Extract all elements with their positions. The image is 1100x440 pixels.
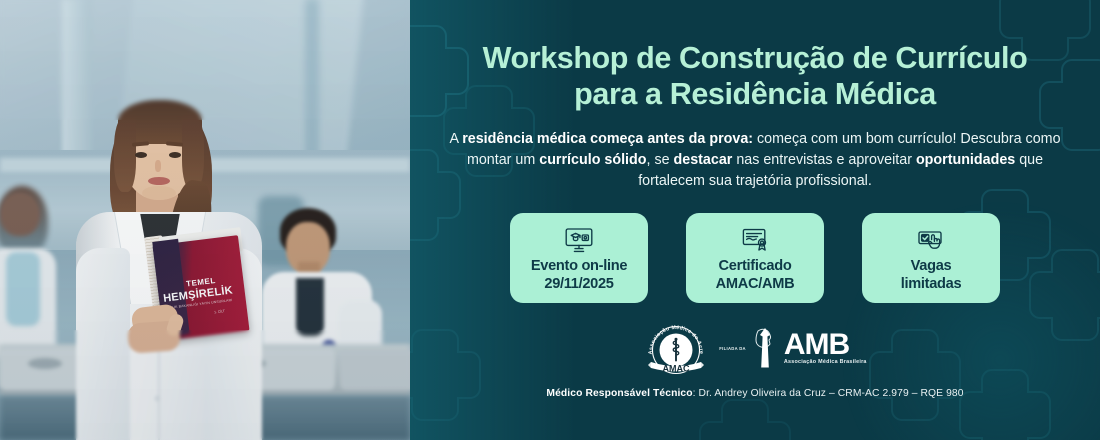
promo-banner: TEMEL HEMŞİRELİK SAĞLIK BAKANLIĞI YAYIN … (0, 0, 1100, 440)
feature-card-event[interactable]: Evento on-line 29/11/2025 (510, 213, 648, 303)
amac-logo: Associação Médica do Acre AMAC (643, 317, 709, 379)
amb-full-name: Associação Médica Brasileira (784, 359, 867, 366)
feature-card-certificate[interactable]: Certificado AMAC/AMB (686, 213, 824, 303)
amb-acronym: AMB (784, 331, 849, 359)
subtitle-run-0: A (449, 131, 462, 147)
brazil-map-column-icon (751, 326, 779, 370)
feature-card-limited-seats-line1: Vagas (911, 258, 952, 275)
subtitle-run-4: , se (647, 152, 674, 168)
subtitle-run-1: residência médica começa antes da prova: (462, 131, 753, 147)
technical-responsible-footer: Médico Responsável Técnico: Dr. Andrey O… (432, 388, 1078, 399)
feature-card-event-line2: 29/11/2025 (544, 276, 613, 293)
online-monitor-graduation-icon (564, 224, 594, 256)
amb-logo: FILIADA DA AMB Associação Médica Brasile… (719, 326, 866, 370)
subtitle-run-3: currículo sólido (539, 152, 646, 168)
footer-label: Médico Responsável Técnico (546, 388, 692, 399)
feature-card-event-line1: Evento on-line (531, 258, 627, 275)
checkbox-hand-click-icon (916, 224, 946, 256)
hero-photo: TEMEL HEMŞİRELİK SAĞLIK BAKANLIĞI YAYIN … (0, 0, 410, 440)
subtitle-run-7: oportunidades (916, 152, 1015, 168)
footer-value: : Dr. Andrey Oliveira da Cruz – CRM-AC 2… (693, 388, 964, 399)
feature-card-limited-seats[interactable]: Vagas limitadas (862, 213, 1000, 303)
partner-logos: Associação Médica do Acre AMAC (432, 317, 1078, 379)
subtitle-run-6: nas entrevistas e aproveitar (732, 152, 916, 168)
title-line-1: Workshop de Construção de Currículo (432, 40, 1078, 76)
subtitle-run-5: destacar (674, 152, 733, 168)
feature-card-limited-seats-line2: limitadas (901, 276, 962, 293)
certificate-seal-icon (740, 224, 770, 256)
amac-logo-svg: Associação Médica do Acre AMAC (643, 317, 709, 379)
amb-wordmark: AMB Associação Médica Brasileira (784, 331, 867, 366)
feature-card-certificate-line1: Certificado (719, 258, 792, 275)
feature-card-certificate-line2: AMAC/AMB (716, 276, 795, 293)
page-title: Workshop de Construção de Currículo para… (432, 40, 1078, 112)
photo-color-grade (0, 0, 410, 440)
amac-banner-text: AMAC (663, 363, 690, 373)
amb-filiada-label: FILIADA DA (719, 346, 746, 351)
feature-card-list: Evento on-line 29/11/2025 Certificado (432, 213, 1078, 303)
title-line-2: para a Residência Médica (432, 76, 1078, 112)
hero-subtitle: A residência médica começa antes da prov… (432, 129, 1078, 192)
content-panel: Workshop de Construção de Currículo para… (410, 0, 1100, 440)
